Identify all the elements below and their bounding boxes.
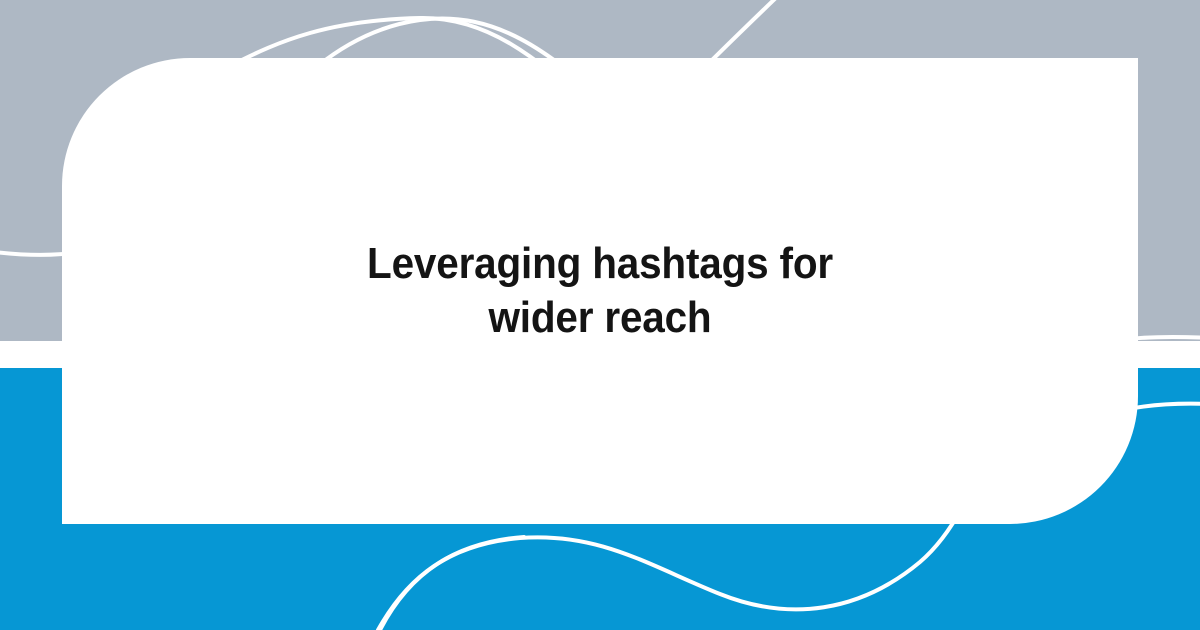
headline-card-inner: Leveraging hashtags for wider reach <box>122 237 1078 344</box>
headline-card: Leveraging hashtags for wider reach <box>62 58 1138 524</box>
social-share-card: Leveraging hashtags for wider reach <box>0 0 1200 630</box>
page-title: Leveraging hashtags for wider reach <box>160 237 1040 344</box>
